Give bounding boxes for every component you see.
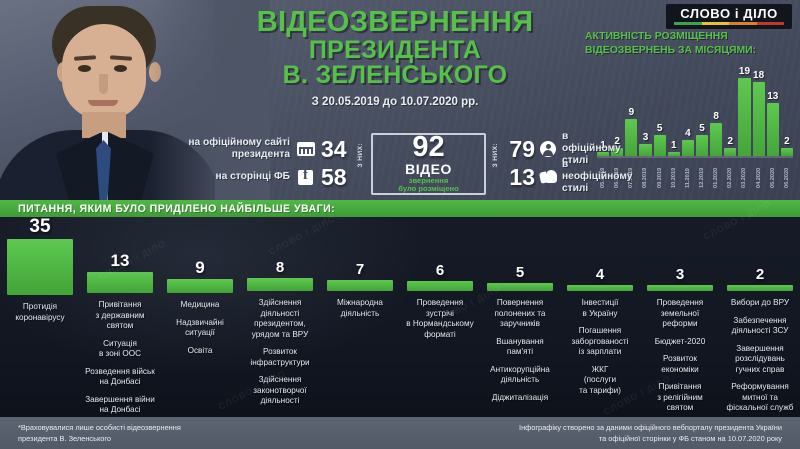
topic-item: Привітанняз релігійнимсвятом xyxy=(643,382,717,414)
chart-bars: 12935145821918132 xyxy=(597,60,793,156)
stat-value: 34 xyxy=(321,138,355,161)
total-videos-word: ВІДЕО xyxy=(405,162,452,176)
chart-x-tick: 11.2019 xyxy=(682,158,694,188)
chart-bar: 2 xyxy=(781,60,793,156)
chart-x-tick: 05.2020 xyxy=(767,158,779,188)
topic-column: 4Інвестиціїв УкраїнуПогашеннязаборговано… xyxy=(560,217,640,417)
topic-item: Інвестиціїв Україну xyxy=(563,298,637,319)
top-band: СЛОВО і ДІЛО ВІДЕОЗВЕРНЕННЯ ПРЕЗИДЕНТА В… xyxy=(0,0,800,200)
chart-bar-rect xyxy=(625,119,637,156)
informal-style-icon xyxy=(540,169,557,186)
topic-count: 7 xyxy=(323,262,397,277)
chart-x-tick: 03.2020 xyxy=(738,158,750,188)
chart-bar: 5 xyxy=(654,60,666,156)
brand-logo[interactable]: СЛОВО і ДІЛО xyxy=(666,4,792,29)
footer-note-left: *Враховувалися лише особисті відеозверне… xyxy=(18,423,181,444)
topics-section: 35Протидіякоронавірусу13Привітанняз держ… xyxy=(0,217,800,417)
summary-stats: на офіційному сайтіпрезидента34на сторін… xyxy=(175,133,595,195)
topic-item: Бюджет-2020 xyxy=(643,337,717,348)
topic-bar xyxy=(87,272,153,293)
topic-count: 13 xyxy=(83,252,157,269)
stat-row: на сторінці ФБ58 xyxy=(175,163,355,191)
topic-items: Поверненняполонених тазаручниківВшануван… xyxy=(483,298,557,403)
topic-item: Привітанняз державнимсвятом xyxy=(83,300,157,332)
topic-column: 6Проведеннязустрічів Нормандськомуформат… xyxy=(400,217,480,417)
chart-x-tick: 09.2019 xyxy=(654,158,666,188)
topic-column: 35Протидіякоронавірусу xyxy=(0,217,80,417)
topic-item: Поверненняполонених тазаручників xyxy=(483,298,557,330)
topic-bar xyxy=(247,278,313,291)
topic-item: Надзвичайніситуації xyxy=(163,318,237,339)
stat-label: в неофіційномустилі xyxy=(562,159,632,194)
section-header-text: ПИТАННЯ, ЯКИМ БУЛО ПРИДІЛЕНО НАЙБІЛЬШЕ У… xyxy=(0,203,335,215)
topic-items: Здійсненнядіяльностіпрезидентом,урядом т… xyxy=(243,298,317,407)
infographic-root: СЛОВО і ДІЛО ВІДЕОЗВЕРНЕННЯ ПРЕЗИДЕНТА В… xyxy=(0,0,800,449)
topic-item: Вшануванняпам'яті xyxy=(483,337,557,358)
topic-column: 8Здійсненнядіяльностіпрезидентом,урядом … xyxy=(240,217,320,417)
topic-item: Освіта xyxy=(163,346,237,357)
chart-bar: 2 xyxy=(724,60,736,156)
topic-item: Медицина xyxy=(163,300,237,311)
topic-item: Проведеннязустрічів Нормандськомуформаті xyxy=(403,298,477,340)
topic-item: Розведення військна Донбасі xyxy=(83,367,157,388)
chart-bar-value: 4 xyxy=(685,129,691,139)
topic-item: Вибори до ВРУ xyxy=(723,298,797,309)
stat-label: на сторінці ФБ xyxy=(215,171,290,183)
total-videos-number: 92 xyxy=(412,134,444,162)
chart-bar-rect xyxy=(696,135,708,156)
topic-items: МедицинаНадзвичайніситуаціїОсвіта xyxy=(163,300,237,356)
stat-value: 58 xyxy=(321,166,355,189)
topic-bar xyxy=(727,285,793,291)
topic-column: 9МедицинаНадзвичайніситуаціїОсвіта xyxy=(160,217,240,417)
chart-bar-rect xyxy=(781,148,793,156)
chart-bar-rect xyxy=(738,78,750,156)
chart-x-tick: 08.2019 xyxy=(639,158,651,188)
topic-bar xyxy=(567,285,633,291)
chart-bar-rect xyxy=(753,82,765,156)
topic-item: Міжнароднадіяльність xyxy=(323,298,397,319)
chart-bar-rect xyxy=(639,144,651,156)
topic-items: Привітанняз державнимсвятомСитуаціяв зон… xyxy=(83,300,157,416)
chart-x-tick: 12.2019 xyxy=(696,158,708,188)
stat-row: на офіційному сайтіпрезидента34 xyxy=(175,135,355,163)
topic-item: Проведенняземельноїреформи xyxy=(643,298,717,330)
chart-bar: 18 xyxy=(753,60,765,156)
chart-bar: 4 xyxy=(682,60,694,156)
topic-items: ПроведенняземельноїреформиБюджет-2020Роз… xyxy=(643,298,717,414)
chart-x-tick: 10.2019 xyxy=(668,158,680,188)
chart-bar: 5 xyxy=(696,60,708,156)
website-icon xyxy=(296,141,315,157)
topic-item: Погашеннязаборгованостііз зарплати xyxy=(563,326,637,358)
chart-bar-value: 13 xyxy=(767,92,778,102)
topic-item: Протидіякоронавірусу xyxy=(3,302,77,323)
chart-bar: 3 xyxy=(639,60,651,156)
topic-item: Ситуаціяв зоні ООС xyxy=(83,339,157,360)
topic-count: 8 xyxy=(243,260,317,275)
title-line-3: В. ЗЕЛЕНСЬКОГО xyxy=(180,63,610,89)
topic-count: 35 xyxy=(3,217,77,236)
chart-bar-value: 1 xyxy=(671,141,677,151)
topic-item: Антикорупційнадіяльність xyxy=(483,365,557,386)
stat-value: 79 xyxy=(505,138,535,161)
stat-row: 13в неофіційномустилі xyxy=(505,163,625,191)
topic-bar xyxy=(7,239,73,295)
topic-count: 9 xyxy=(163,259,237,276)
formal-style-icon xyxy=(540,141,557,158)
chart-x-tick: 04.2020 xyxy=(753,158,765,188)
topic-count: 3 xyxy=(643,267,717,282)
total-videos-box: 92 ВІДЕО звернення було розміщено xyxy=(371,133,486,195)
topic-item: Діджиталізація xyxy=(483,393,557,404)
stats-right: 79в офіційномустилі13в неофіційномустилі xyxy=(505,135,625,191)
chart-bar-value: 3 xyxy=(643,133,649,143)
footer-note-right: Інфографіку створено за даними офіційног… xyxy=(519,423,782,444)
title-line-1: ВІДЕОЗВЕРНЕННЯ xyxy=(180,8,610,38)
stat-value: 13 xyxy=(505,166,535,189)
chart-bar-value: 5 xyxy=(657,124,663,134)
chart-bar: 13 xyxy=(767,60,779,156)
chart-bar-value: 5 xyxy=(699,124,705,134)
topic-item: Здійсненнязаконотворчоїдіяльності xyxy=(243,375,317,407)
footer: *Враховувалися лише особисті відеозверне… xyxy=(0,417,800,449)
topic-items: Проведеннязустрічів Нормандськомуформаті xyxy=(403,298,477,340)
chart-bar: 19 xyxy=(738,60,750,156)
topic-bar xyxy=(407,281,473,291)
chart-bar-value: 19 xyxy=(739,67,750,77)
topic-items: Протидіякоронавірусу xyxy=(3,302,77,323)
topic-bar xyxy=(167,279,233,293)
chart-x-tick: 02.2020 xyxy=(724,158,736,188)
chart-bar-rect xyxy=(682,140,694,156)
chart-title: АКТИВНІСТЬ РОЗМІЩЕННЯВІДЕОЗВЕРНЕНЬ ЗА МІ… xyxy=(585,30,797,57)
of-which-label-left: З НИХ: xyxy=(357,143,367,167)
chart-bar-value: 18 xyxy=(753,71,764,81)
topic-count: 5 xyxy=(483,265,557,280)
stat-label: на офіційному сайтіпрезидента xyxy=(188,137,290,160)
chart-bar-rect xyxy=(767,103,779,156)
chart-bar-rect xyxy=(710,123,722,156)
topic-bar xyxy=(647,285,713,291)
chart-bar-rect xyxy=(724,148,736,156)
topic-bar xyxy=(327,280,393,291)
topic-items: Інвестиціїв УкраїнуПогашеннязаборгованос… xyxy=(563,298,637,396)
of-which-label-right: З НИХ: xyxy=(492,143,502,167)
topic-item: Завершення війнина Донбасі xyxy=(83,395,157,416)
topic-column: 2Вибори до ВРУЗабезпеченнядіяльності ЗСУ… xyxy=(720,217,800,417)
logo-underline xyxy=(674,22,784,25)
chart-bar-value: 8 xyxy=(713,112,719,122)
topic-column: 5Поверненняполонених тазаручниківВшанува… xyxy=(480,217,560,417)
chart-bar: 9 xyxy=(625,60,637,156)
topic-item: Забезпеченнядіяльності ЗСУ xyxy=(723,316,797,337)
topic-column: 13Привітанняз державнимсвятомСитуаціяв з… xyxy=(80,217,160,417)
date-range: З 20.05.2019 до 10.07.2020 рр. xyxy=(180,96,610,108)
topic-count: 4 xyxy=(563,267,637,282)
topic-column: 7Міжнароднадіяльність xyxy=(320,217,400,417)
topic-item: Розвитокекономіки xyxy=(643,354,717,375)
topic-count: 6 xyxy=(403,263,477,278)
stats-left: на офіційному сайтіпрезидента34на сторін… xyxy=(175,135,355,191)
chart-bar-rect xyxy=(654,135,666,156)
chart-bar: 8 xyxy=(710,60,722,156)
page-title: ВІДЕОЗВЕРНЕННЯ ПРЕЗИДЕНТА В. ЗЕЛЕНСЬКОГО… xyxy=(180,8,610,108)
topic-item: Реформуваннямитної тафіскальної служб xyxy=(723,382,797,414)
topic-item: Завершеннярозслідуваньгучних справ xyxy=(723,344,797,376)
chart-bar: 1 xyxy=(668,60,680,156)
logo-text: СЛОВО і ДІЛО xyxy=(674,7,784,20)
chart-x-tick: 06.2020 xyxy=(781,158,793,188)
topic-bar xyxy=(487,283,553,291)
section-header-bar: ПИТАННЯ, ЯКИМ БУЛО ПРИДІЛЕНО НАЙБІЛЬШЕ У… xyxy=(0,200,800,217)
chart-bar-value: 9 xyxy=(629,108,635,118)
topic-count: 2 xyxy=(723,267,797,282)
topic-column: 3ПроведенняземельноїреформиБюджет-2020Ро… xyxy=(640,217,720,417)
topic-item: Здійсненнядіяльностіпрезидентом,урядом т… xyxy=(243,298,317,340)
title-line-2: ПРЕЗИДЕНТА xyxy=(180,38,610,64)
facebook-icon xyxy=(296,169,315,185)
chart-bar-value: 2 xyxy=(784,137,790,147)
topic-items: Міжнароднадіяльність xyxy=(323,298,397,319)
topic-item: Розвитокінфраструктури xyxy=(243,347,317,368)
chart-bar-value: 2 xyxy=(728,137,734,147)
chart-x-tick: 01.2020 xyxy=(710,158,722,188)
topic-item: ЖКГ(послугита тарифи) xyxy=(563,365,637,397)
total-videos-sub2: було розміщено xyxy=(398,185,459,194)
